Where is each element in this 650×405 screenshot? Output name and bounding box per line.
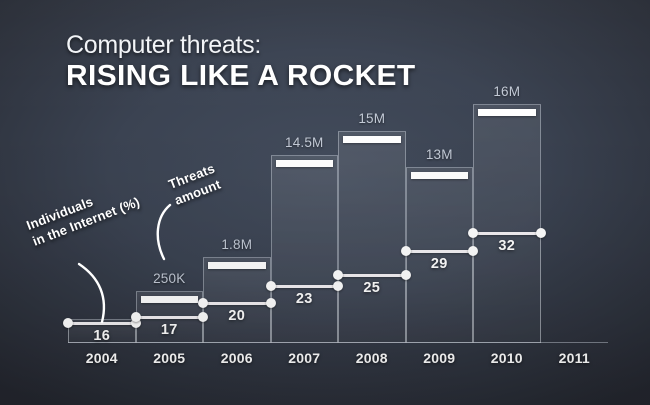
data-point-marker [131, 312, 141, 322]
x-axis-label-2009: 2009 [406, 350, 474, 366]
threat-value-label: 15M [338, 111, 406, 126]
threat-bar-cap [141, 296, 199, 303]
percentage-value-label: 16 [68, 328, 136, 344]
percentage-step-line [338, 274, 406, 277]
infographic-canvas: Computer threats: RISING LIKE A ROCKET I… [0, 0, 650, 405]
threat-bar-cap [276, 160, 334, 167]
data-point-marker [333, 270, 343, 280]
threat-value-label: 250K [136, 271, 204, 286]
data-point-marker [468, 228, 478, 238]
annotation-arrow-threats-icon [150, 203, 180, 261]
percentage-step-line [406, 250, 474, 253]
percentage-value-label: 17 [136, 322, 204, 338]
threat-value-label: 14.5M [271, 135, 339, 150]
threat-bar-cap [208, 262, 266, 269]
title-block: Computer threats: RISING LIKE A ROCKET [66, 30, 405, 93]
threat-value-label: 13M [406, 147, 474, 162]
percentage-value-label: 23 [271, 291, 339, 307]
threat-bar-cap [411, 172, 469, 179]
percentage-step-line [271, 285, 339, 288]
x-axis-label-2005: 2005 [136, 350, 204, 366]
x-axis-label-2006: 2006 [203, 350, 271, 366]
threat-bar-cap [343, 136, 401, 143]
x-axis-label-2004: 2004 [68, 350, 136, 366]
data-point-marker [266, 281, 276, 291]
x-axis-label-2010: 2010 [473, 350, 541, 366]
page-title-secondary: RISING LIKE A ROCKET [66, 60, 416, 93]
data-point-marker [401, 246, 411, 256]
threat-bar-cap [478, 109, 536, 116]
percentage-step-line [473, 232, 541, 235]
annotation-arrow-individuals-icon [76, 262, 116, 324]
page-title-primary: Computer threats: [66, 30, 405, 60]
percentage-step-line [203, 302, 271, 305]
threat-value-label: 1.8M [203, 237, 271, 252]
percentage-step-line [136, 316, 204, 319]
x-axis-label-2008: 2008 [338, 350, 406, 366]
percentage-value-label: 25 [338, 280, 406, 296]
x-axis-label-2007: 2007 [271, 350, 339, 366]
data-point-marker [63, 318, 73, 328]
threat-value-label: 16M [473, 84, 541, 99]
data-point-marker [198, 298, 208, 308]
data-point-marker [536, 228, 546, 238]
percentage-value-label: 20 [203, 308, 271, 324]
percentage-value-label: 29 [406, 256, 474, 272]
x-axis-label-2011: 2011 [541, 350, 609, 366]
percentage-value-label: 32 [473, 238, 541, 254]
